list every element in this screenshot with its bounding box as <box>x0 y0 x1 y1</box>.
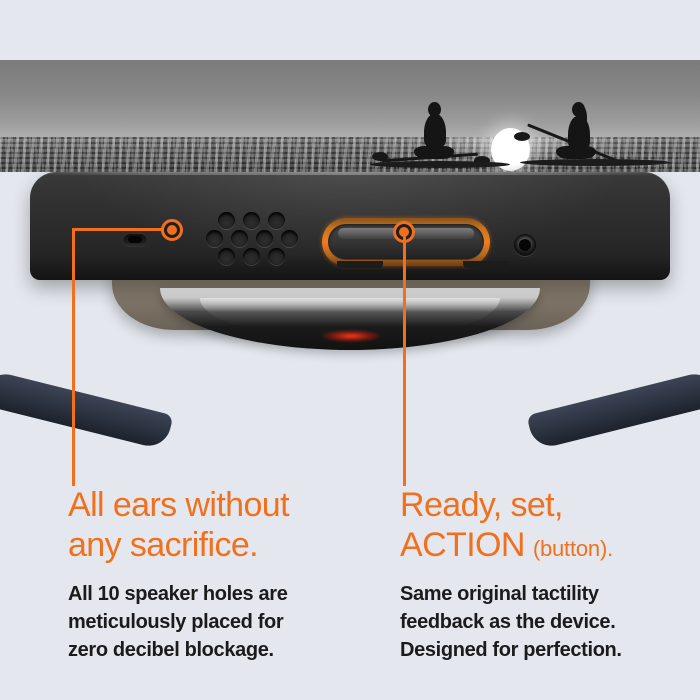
speaker-headline: All ears without any sacrifice. <box>68 486 368 566</box>
action-headline-line1: Ready, set, <box>400 486 563 524</box>
speaker-hole <box>206 230 223 247</box>
speaker-hole <box>243 248 260 265</box>
speaker-hole-row <box>218 212 285 229</box>
speaker-hole <box>281 230 298 247</box>
speaker-hole-row <box>218 248 285 265</box>
speaker-hole <box>268 248 285 265</box>
strap-hole-right <box>660 437 694 471</box>
product-feature-graphic: All ears without any sacrifice. All 10 s… <box>0 0 700 700</box>
action-button-notch-left <box>337 261 383 268</box>
speaker-headline-line1: All ears without <box>68 486 289 524</box>
action-body-line3: Designed for perfection. <box>400 636 690 664</box>
action-headline-suffix: (button). <box>533 536 613 561</box>
speaker-hole <box>256 230 273 247</box>
speaker-holes-marker[interactable] <box>161 219 183 241</box>
callout-line-left-vertical <box>72 228 75 486</box>
action-headline: Ready, set, ACTION(button). <box>400 486 690 566</box>
speaker-hole <box>218 212 235 229</box>
action-headline-line2: ACTION <box>400 526 525 564</box>
speaker-body-line1: All 10 speaker holes are <box>68 580 368 608</box>
action-button-notch-right <box>463 261 509 268</box>
speaker-body-copy: All 10 speaker holes are meticulously pl… <box>68 580 368 665</box>
speaker-hole <box>243 212 260 229</box>
speaker-hole <box>231 230 248 247</box>
microphone-port-inner <box>519 239 531 251</box>
speaker-hole <box>268 212 285 229</box>
sensor-oval-inner <box>128 236 142 243</box>
speaker-callout-text: All ears without any sacrifice. All 10 s… <box>68 486 368 665</box>
strap-hole-left <box>6 437 40 471</box>
case-top-highlight <box>30 172 670 175</box>
action-body-line2: feedback as the device. <box>400 608 690 636</box>
callout-line-right-vertical <box>403 232 406 486</box>
heart-rate-sensor-icon <box>322 330 380 342</box>
speaker-body-line2: meticulously placed for <box>68 608 368 636</box>
action-body-copy: Same original tactility feedback as the … <box>400 580 690 665</box>
speaker-body-line3: zero decibel blockage. <box>68 636 368 664</box>
action-button-callout-text: Ready, set, ACTION(button). Same origina… <box>400 486 690 665</box>
callout-line-left-horizontal <box>72 228 162 231</box>
speaker-hole-row <box>206 230 298 247</box>
speaker-holes <box>206 212 298 264</box>
speaker-hole <box>218 248 235 265</box>
action-body-line1: Same original tactility <box>400 580 690 608</box>
speaker-headline-line2: any sacrifice. <box>68 526 258 564</box>
